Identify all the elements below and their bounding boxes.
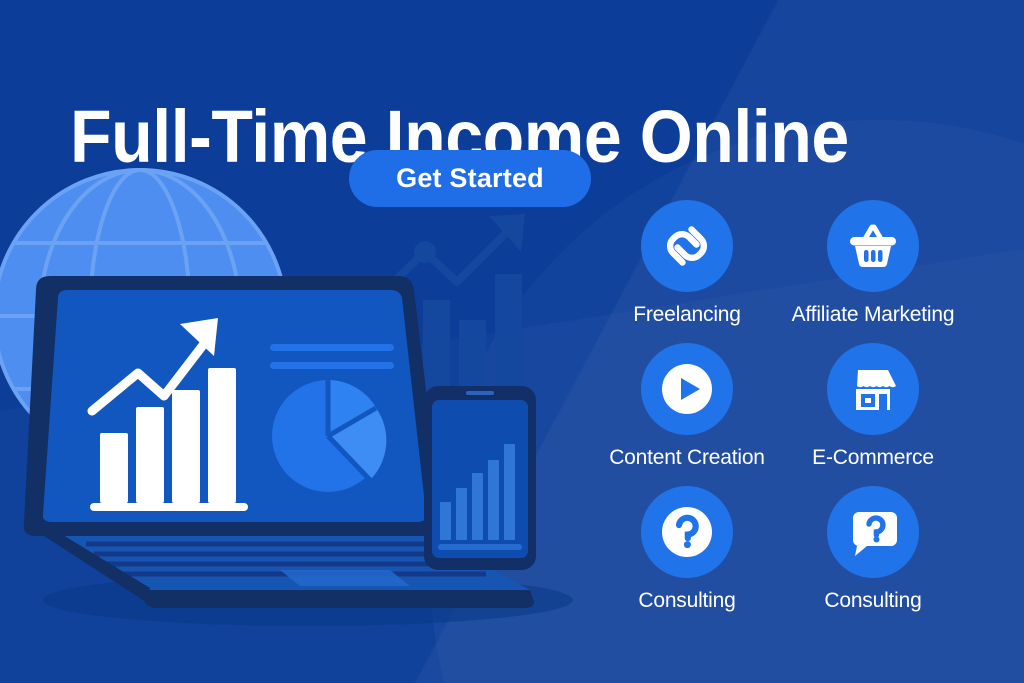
play-circle-icon [658,360,716,418]
smartphone-icon [418,380,548,580]
feature-icon-circle [827,200,919,292]
chat-question-icon [847,506,899,558]
laptop-icon [18,268,578,628]
feature-label: E-Commerce [812,446,934,470]
link-icon [660,219,714,273]
feature-label: Freelancing [633,303,741,327]
question-circle-icon [658,503,716,561]
globe-icon [0,168,288,464]
promo-banner: Full-Time Income Online Get Started Free… [0,0,1024,683]
feature-label: Affiliate Marketing [792,303,955,327]
feature-label: Consulting [638,589,735,613]
get-started-button[interactable]: Get Started [349,150,591,207]
feature-icon-circle [641,486,733,578]
feature-item-ecommerce[interactable]: E-Commerce [782,343,964,470]
feature-item-consulting[interactable]: Consulting [596,486,778,613]
feature-grid: Freelancing Aff [596,200,996,613]
feature-icon-circle [827,486,919,578]
storefront-icon [846,362,900,416]
feature-label: Consulting [824,589,921,613]
feature-icon-circle [641,343,733,435]
feature-item-freelancing[interactable]: Freelancing [596,200,778,327]
background-growth-chart-icon [385,212,565,442]
feature-icon-circle [641,200,733,292]
shopping-basket-icon [846,219,900,273]
feature-label: Content Creation [609,446,765,470]
feature-item-content-creation[interactable]: Content Creation [596,343,778,470]
feature-item-consulting-chat[interactable]: Consulting [782,486,964,613]
feature-icon-circle [827,343,919,435]
feature-item-affiliate-marketing[interactable]: Affiliate Marketing [782,200,964,327]
